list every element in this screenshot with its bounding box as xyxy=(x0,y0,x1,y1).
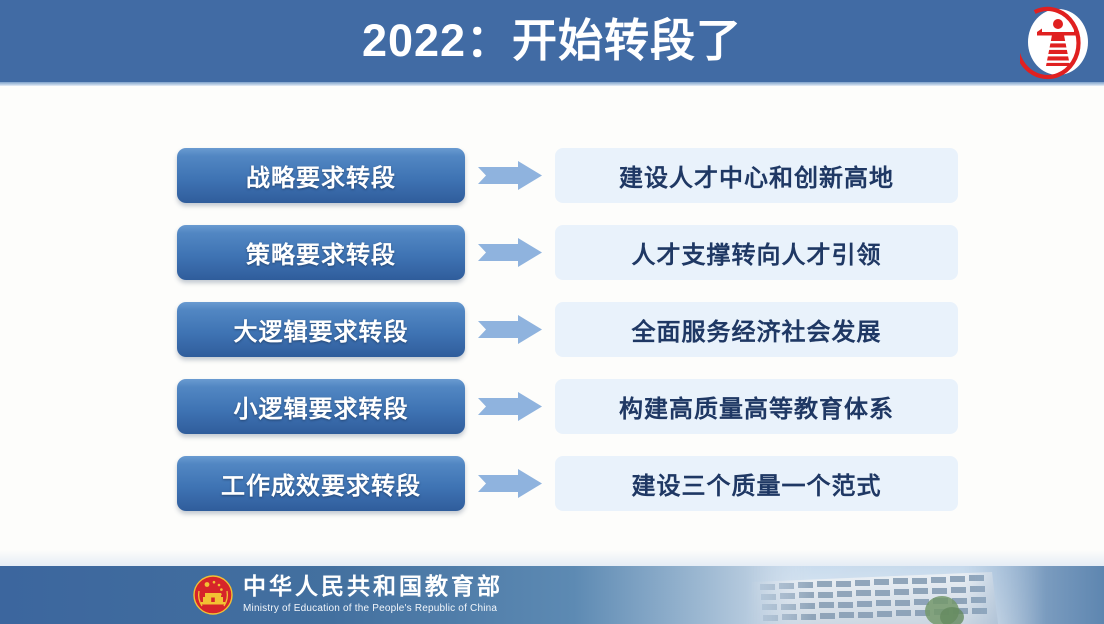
transition-row: 策略要求转段 人才支撑转向人才引领 xyxy=(0,225,1104,280)
requirement-label: 工作成效要求转段 xyxy=(221,466,421,501)
requirement-label: 战略要求转段 xyxy=(246,158,396,193)
outcome-label: 构建高质量高等教育体系 xyxy=(619,389,894,424)
transition-row: 工作成效要求转段 建设三个质量一个范式 xyxy=(0,456,1104,511)
outcome-box[interactable]: 建设三个质量一个范式 xyxy=(555,456,958,511)
page-title: 2022：开始转段了 xyxy=(0,0,1104,82)
footer-organization-en: Ministry of Education of the People's Re… xyxy=(243,602,503,615)
right-arrow-icon xyxy=(478,392,542,421)
outcome-box[interactable]: 构建高质量高等教育体系 xyxy=(555,379,958,434)
requirement-label: 大逻辑要求转段 xyxy=(234,312,409,347)
requirement-box[interactable]: 策略要求转段 xyxy=(177,225,465,280)
outcome-label: 全面服务经济社会发展 xyxy=(632,312,882,347)
right-arrow-icon xyxy=(478,469,542,498)
outcome-box[interactable]: 全面服务经济社会发展 xyxy=(555,302,958,357)
transition-row: 大逻辑要求转段 全面服务经济社会发展 xyxy=(0,302,1104,357)
outcome-label: 建设人才中心和创新高地 xyxy=(619,158,894,193)
requirement-label: 小逻辑要求转段 xyxy=(234,389,409,424)
outcome-box[interactable]: 建设人才中心和创新高地 xyxy=(555,148,958,203)
university-tower-emblem-icon xyxy=(1020,4,1096,80)
right-arrow-icon xyxy=(478,315,542,344)
slide-footer: 中华人民共和国教育部 Ministry of Education of the … xyxy=(0,566,1104,624)
requirement-box[interactable]: 大逻辑要求转段 xyxy=(177,302,465,357)
outcome-label: 人才支撑转向人才引领 xyxy=(632,235,882,270)
requirement-box[interactable]: 工作成效要求转段 xyxy=(177,456,465,511)
right-arrow-icon xyxy=(478,238,542,267)
transition-row: 战略要求转段 建设人才中心和创新高地 xyxy=(0,148,1104,203)
slide: 2022：开始转段了 xyxy=(0,0,1104,624)
outcome-box[interactable]: 人才支撑转向人才引领 xyxy=(555,225,958,280)
requirement-box[interactable]: 小逻辑要求转段 xyxy=(177,379,465,434)
footer-organization: 中华人民共和国教育部 Ministry of Education of the … xyxy=(243,574,503,615)
office-building-photo xyxy=(746,566,1046,624)
outcome-label: 建设三个质量一个范式 xyxy=(632,466,882,501)
header-underline xyxy=(0,82,1104,86)
right-arrow-icon xyxy=(478,161,542,190)
china-national-emblem-icon xyxy=(193,575,233,615)
transition-rows: 战略要求转段 建设人才中心和创新高地 策略要求转段 人才支撑转向 xyxy=(0,148,1104,533)
footer-top-gradient xyxy=(0,550,1104,566)
requirement-label: 策略要求转段 xyxy=(246,235,396,270)
slide-header: 2022：开始转段了 xyxy=(0,0,1104,82)
transition-row: 小逻辑要求转段 构建高质量高等教育体系 xyxy=(0,379,1104,434)
footer-organization-cn: 中华人民共和国教育部 xyxy=(243,574,503,600)
requirement-box[interactable]: 战略要求转段 xyxy=(177,148,465,203)
